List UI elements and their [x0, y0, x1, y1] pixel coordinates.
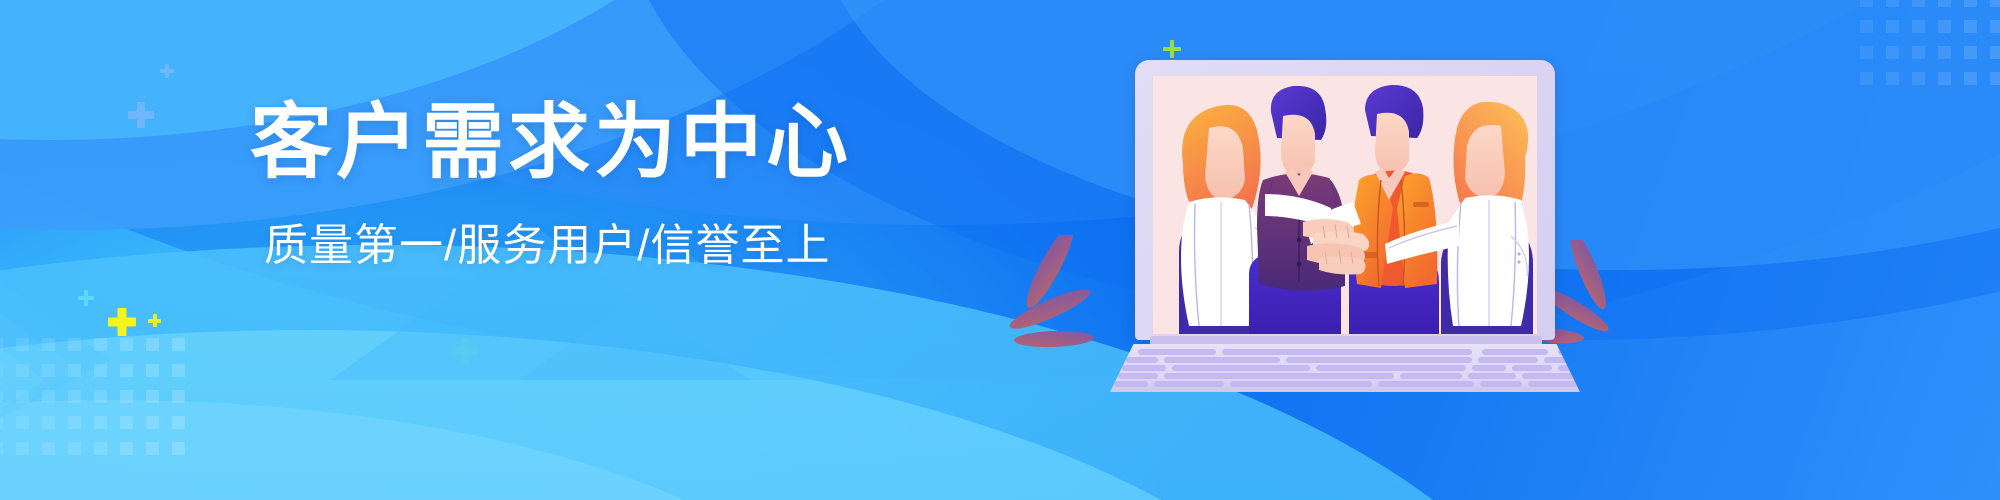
keyboard-key	[1558, 365, 1574, 371]
keyboard-key	[1400, 373, 1462, 379]
grid-dot	[0, 338, 3, 351]
keyboard-key	[1522, 373, 1574, 379]
keyboard-key	[1154, 381, 1224, 387]
grid-dot	[120, 390, 133, 403]
grid-dot	[172, 364, 185, 377]
laptop-hinge	[1150, 336, 1542, 345]
grid-dot	[68, 416, 81, 429]
keyboard-key	[1480, 381, 1522, 387]
grid-dot	[42, 390, 55, 403]
banner-headline: 客户需求为中心	[250, 100, 870, 187]
grid-dot	[146, 390, 159, 403]
grid-dot	[16, 442, 29, 455]
grid-dot	[146, 364, 159, 377]
grid-dot	[42, 364, 55, 377]
grid-dot	[1964, 0, 1977, 7]
plus-yellow-tiny-icon	[148, 314, 161, 327]
keyboard-key	[1114, 381, 1148, 387]
grid-dot	[42, 442, 55, 455]
teamwork-people-illustration	[1153, 76, 1537, 334]
grid-dot	[94, 364, 107, 377]
grid-dot	[68, 338, 81, 351]
grid-dot	[120, 442, 133, 455]
mountain-shape-2	[520, 255, 860, 380]
laptop-lid	[1135, 60, 1555, 340]
keyboard-key	[1482, 349, 1548, 355]
plus-cyan-bottom-icon	[78, 290, 94, 306]
grid-dot	[1860, 20, 1873, 33]
keyboard-key	[1472, 365, 1506, 371]
plus-cyan-center-icon	[452, 338, 478, 364]
grid-dot	[1912, 0, 1925, 7]
grid-dot	[1990, 72, 2000, 85]
keyboard-key	[1316, 365, 1466, 371]
plus-white-mid-icon	[128, 102, 154, 128]
grid-dot	[1886, 46, 1899, 59]
keyboard-key	[1528, 381, 1582, 387]
keyboard-key	[1172, 365, 1310, 371]
grid-dot	[1990, 46, 2000, 59]
grid-dot	[42, 416, 55, 429]
grid-dot	[0, 442, 3, 455]
grid-dot	[1990, 0, 2000, 7]
banner-subheadline: 质量第一/服务用户/信誉至上	[264, 209, 870, 273]
grid-dot	[68, 364, 81, 377]
keyboard-key	[1286, 357, 1472, 363]
grid-dot	[1860, 0, 1873, 7]
grid-dot	[1886, 72, 1899, 85]
grid-dot	[94, 416, 107, 429]
grid-dot	[42, 338, 55, 351]
plus-white-small-icon	[160, 64, 174, 78]
grid-dot	[1964, 46, 1977, 59]
keyboard-key	[1126, 357, 1158, 363]
grid-dot	[1938, 20, 1951, 33]
dot-grid-top-right	[1860, 0, 2000, 98]
laptop-base	[1110, 336, 1580, 394]
grid-dot	[146, 338, 159, 351]
plus-yellow-bottom-icon	[108, 308, 136, 336]
grid-dot	[68, 390, 81, 403]
grid-dot	[1990, 20, 2000, 33]
keyboard-key	[1468, 373, 1516, 379]
grid-dot	[94, 390, 107, 403]
grid-dot	[1964, 20, 1977, 33]
grid-dot	[1938, 46, 1951, 59]
grid-dot	[16, 416, 29, 429]
banner-text-block: 客户需求为中心 质量第一/服务用户/信誉至上	[250, 100, 870, 273]
grid-dot	[1860, 46, 1873, 59]
grid-dot	[1964, 72, 1977, 85]
grid-dot	[120, 364, 133, 377]
keyboard-key	[1118, 373, 1158, 379]
dot-grid-bottom-left	[0, 338, 198, 468]
promo-banner: 客户需求为中心 质量第一/服务用户/信誉至上	[0, 0, 2000, 500]
keyboard-key	[1164, 373, 1394, 379]
grid-dot	[172, 338, 185, 351]
grid-dot	[0, 416, 3, 429]
keyboard-key	[1164, 357, 1280, 363]
plus-green-small-icon	[1163, 40, 1181, 58]
laptop-keyboard	[1110, 344, 1580, 392]
grid-dot	[1912, 46, 1925, 59]
grid-dot	[16, 338, 29, 351]
keyboard-key	[1478, 357, 1538, 363]
keyboard-key	[1378, 381, 1474, 387]
grid-dot	[0, 390, 3, 403]
grid-dot	[120, 416, 133, 429]
grid-dot	[16, 390, 29, 403]
grid-dot	[172, 416, 185, 429]
grid-dot	[1912, 20, 1925, 33]
grid-dot	[0, 364, 3, 377]
grid-dot	[1912, 72, 1925, 85]
laptop-teamwork-illustration	[1110, 60, 1580, 390]
grid-dot	[146, 442, 159, 455]
keyboard-key	[1544, 357, 1572, 363]
grid-dot	[68, 442, 81, 455]
grid-dot	[146, 416, 159, 429]
grid-dot	[1886, 20, 1899, 33]
keyboard-key	[1512, 365, 1552, 371]
grid-dot	[16, 364, 29, 377]
grid-dot	[1860, 72, 1873, 85]
grid-dot	[1938, 0, 1951, 7]
laptop-screen	[1153, 76, 1537, 334]
grid-dot	[172, 390, 185, 403]
grid-dot	[172, 442, 185, 455]
keyboard-key	[1138, 349, 1216, 355]
keyboard-key	[1558, 349, 1576, 355]
grid-dot	[1938, 72, 1951, 85]
keyboard-key	[1230, 381, 1372, 387]
grid-dot	[1886, 0, 1899, 7]
keyboard-key	[1122, 365, 1166, 371]
grid-dot	[120, 338, 133, 351]
grid-dot	[94, 338, 107, 351]
keyboard-key	[1222, 349, 1472, 355]
grid-dot	[94, 442, 107, 455]
